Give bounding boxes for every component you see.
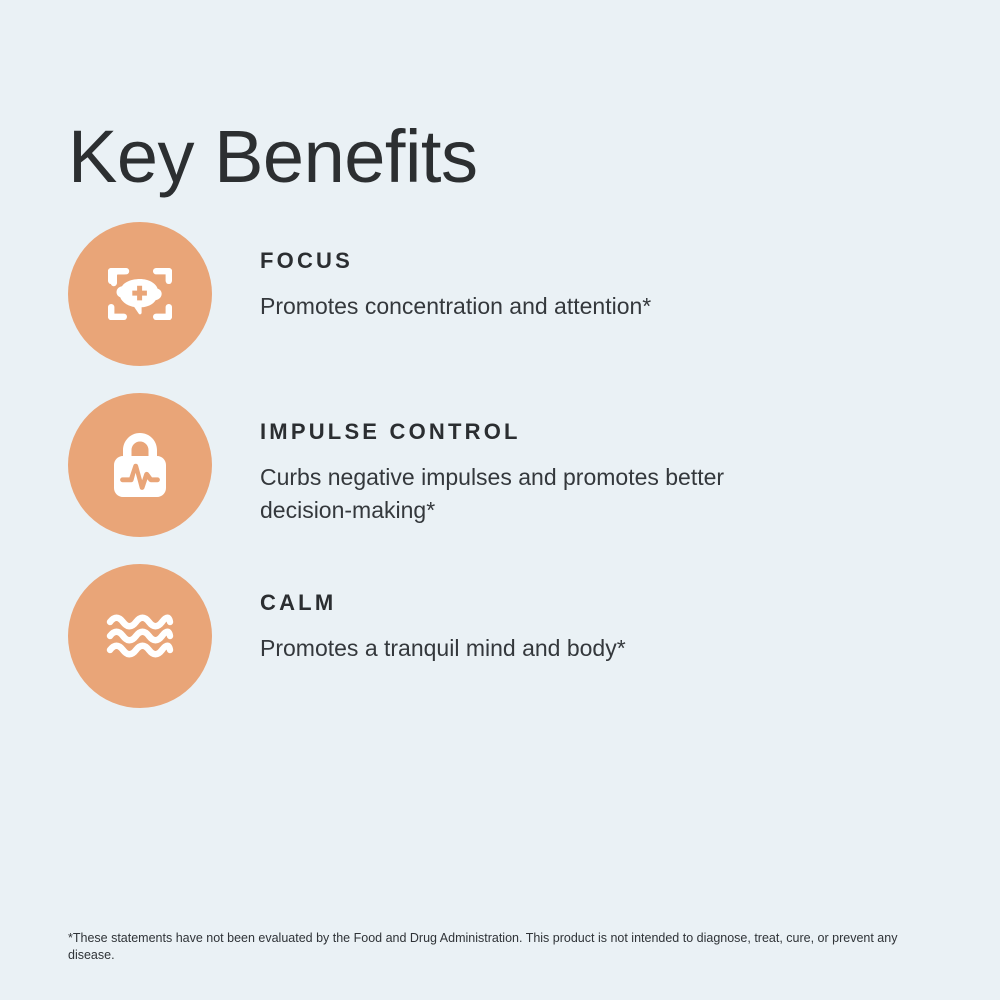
benefit-item-calm: CALM Promotes a tranquil mind and body* xyxy=(0,564,1000,735)
benefit-text-block: CALM Promotes a tranquil mind and body* xyxy=(260,590,880,665)
benefit-icon-badge xyxy=(68,222,212,366)
footer-disclaimer: *These statements have not been evaluate… xyxy=(68,930,924,964)
benefit-text-block: FOCUS Promotes concentration and attenti… xyxy=(260,248,880,323)
lock-pulse-icon xyxy=(100,425,180,505)
key-benefits-panel: Key Benefits xyxy=(0,0,1000,1000)
benefit-heading: IMPULSE CONTROL xyxy=(260,419,880,445)
benefit-icon-badge xyxy=(68,564,212,708)
brain-focus-icon xyxy=(100,254,180,334)
benefit-description: Curbs negative impulses and promotes bet… xyxy=(260,461,820,527)
benefit-description: Promotes a tranquil mind and body* xyxy=(260,632,820,665)
benefit-description: Promotes concentration and attention* xyxy=(260,290,820,323)
page-title: Key Benefits xyxy=(68,114,477,200)
benefit-icon-badge xyxy=(68,393,212,537)
benefit-text-block: IMPULSE CONTROL Curbs negative impulses … xyxy=(260,419,880,527)
benefits-list: FOCUS Promotes concentration and attenti… xyxy=(0,222,1000,735)
benefit-heading: FOCUS xyxy=(260,248,880,274)
benefit-heading: CALM xyxy=(260,590,880,616)
benefit-item-focus: FOCUS Promotes concentration and attenti… xyxy=(0,222,1000,393)
waves-icon xyxy=(100,596,180,676)
benefit-item-impulse-control: IMPULSE CONTROL Curbs negative impulses … xyxy=(0,393,1000,564)
